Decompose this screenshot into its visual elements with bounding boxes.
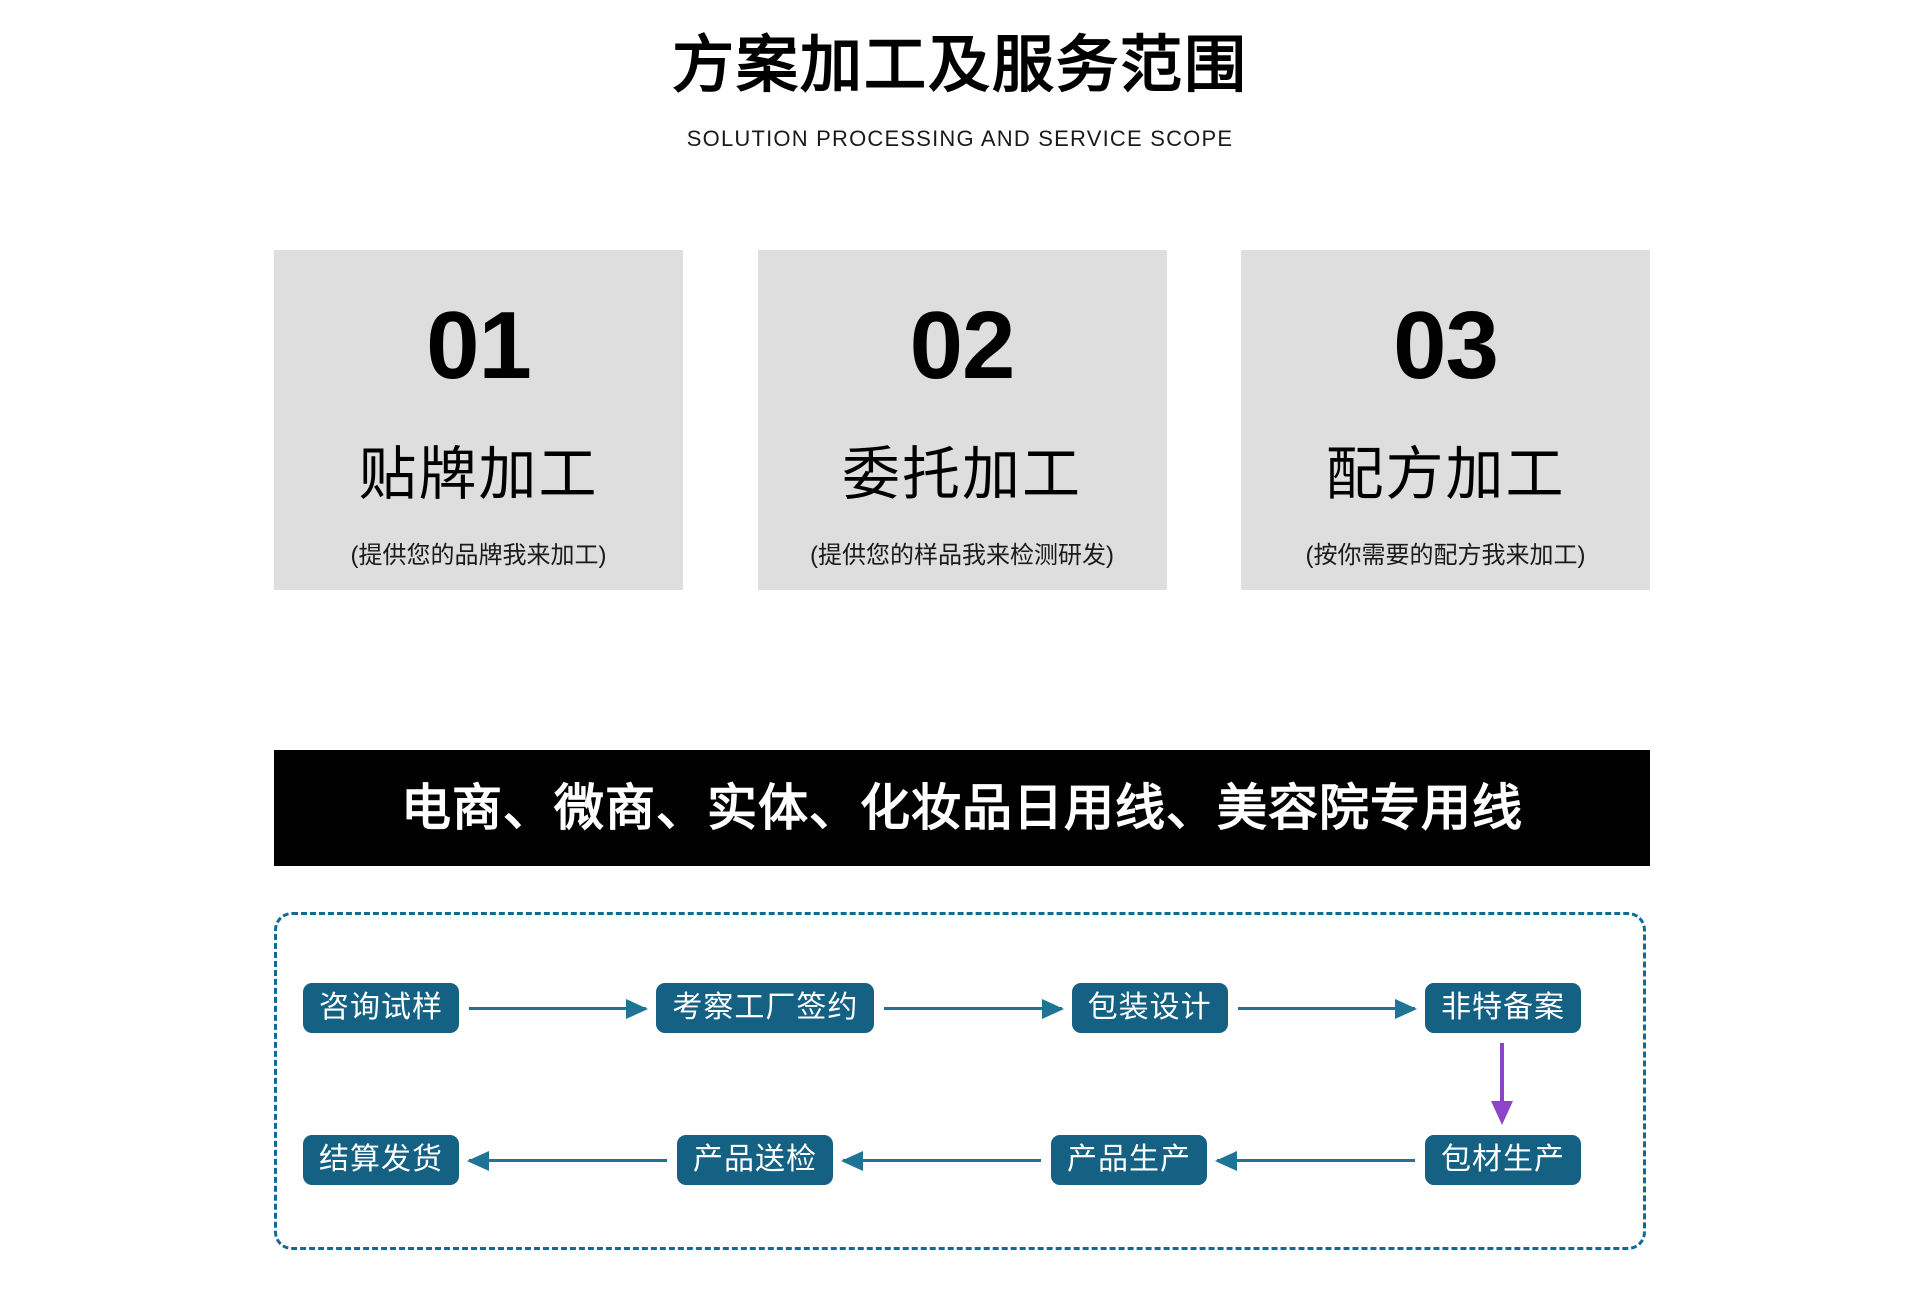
card-title: 配方加工 bbox=[1325, 446, 1565, 504]
service-card-03[interactable]: 03 配方加工 (按你需要的配方我来加工) bbox=[1241, 250, 1650, 590]
card-number: 01 bbox=[426, 298, 531, 394]
flow-node-non-special-filing[interactable]: 非特备案 bbox=[1425, 983, 1581, 1033]
flow-node-consult-sample[interactable]: 咨询试样 bbox=[303, 983, 459, 1033]
flow-arrow-right-2 bbox=[884, 1007, 1061, 1010]
channels-banner: 电商、微商、实体、化妆品日用线、美容院专用线 bbox=[274, 750, 1650, 866]
card-title: 贴牌加工 bbox=[358, 446, 598, 504]
flow-node-packaging-material-production[interactable]: 包材生产 bbox=[1425, 1135, 1581, 1185]
card-title: 委托加工 bbox=[842, 446, 1082, 504]
card-description: (提供您的样品我来检测研发) bbox=[810, 544, 1114, 568]
flow-arrow-down-icon bbox=[1491, 1043, 1513, 1125]
card-number: 02 bbox=[910, 298, 1015, 394]
page-subtitle: SOLUTION PROCESSING AND SERVICE SCOPE bbox=[0, 126, 1920, 152]
flow-arrow-left-2 bbox=[843, 1159, 1041, 1162]
flow-node-factory-visit-contract[interactable]: 考察工厂签约 bbox=[656, 983, 874, 1033]
flow-arrow-left-3 bbox=[1217, 1159, 1415, 1162]
process-flow-row-bottom: 结算发货 产品送检 产品生产 包材生产 bbox=[277, 1135, 1643, 1185]
flow-node-product-production[interactable]: 产品生产 bbox=[1051, 1135, 1207, 1185]
channels-banner-text: 电商、微商、实体、化妆品日用线、美容院专用线 bbox=[401, 783, 1523, 833]
card-number: 03 bbox=[1393, 298, 1498, 394]
header: 方案加工及服务范围 SOLUTION PROCESSING AND SERVIC… bbox=[0, 0, 1920, 152]
page-root: 方案加工及服务范围 SOLUTION PROCESSING AND SERVIC… bbox=[0, 0, 1920, 1300]
service-card-02[interactable]: 02 委托加工 (提供您的样品我来检测研发) bbox=[758, 250, 1167, 590]
process-flow-row-top: 咨询试样 考察工厂签约 包装设计 非特备案 bbox=[277, 983, 1643, 1033]
service-card-01[interactable]: 01 贴牌加工 (提供您的品牌我来加工) bbox=[274, 250, 683, 590]
page-title: 方案加工及服务范围 bbox=[0, 32, 1920, 100]
process-flow-container: 咨询试样 考察工厂签约 包装设计 非特备案 结算发货 bbox=[274, 912, 1646, 1250]
service-cards: 01 贴牌加工 (提供您的品牌我来加工) 02 委托加工 (提供您的样品我来检测… bbox=[274, 250, 1650, 590]
flow-arrow-right-3 bbox=[1238, 1007, 1415, 1010]
flow-arrow-left-1 bbox=[469, 1159, 667, 1162]
flow-node-package-design[interactable]: 包装设计 bbox=[1072, 983, 1228, 1033]
card-description: (按你需要的配方我来加工) bbox=[1306, 544, 1586, 568]
flow-node-product-inspection[interactable]: 产品送检 bbox=[677, 1135, 833, 1185]
card-description: (提供您的品牌我来加工) bbox=[351, 544, 607, 568]
flow-node-settle-shipment[interactable]: 结算发货 bbox=[303, 1135, 459, 1185]
flow-arrow-right-1 bbox=[469, 1007, 646, 1010]
